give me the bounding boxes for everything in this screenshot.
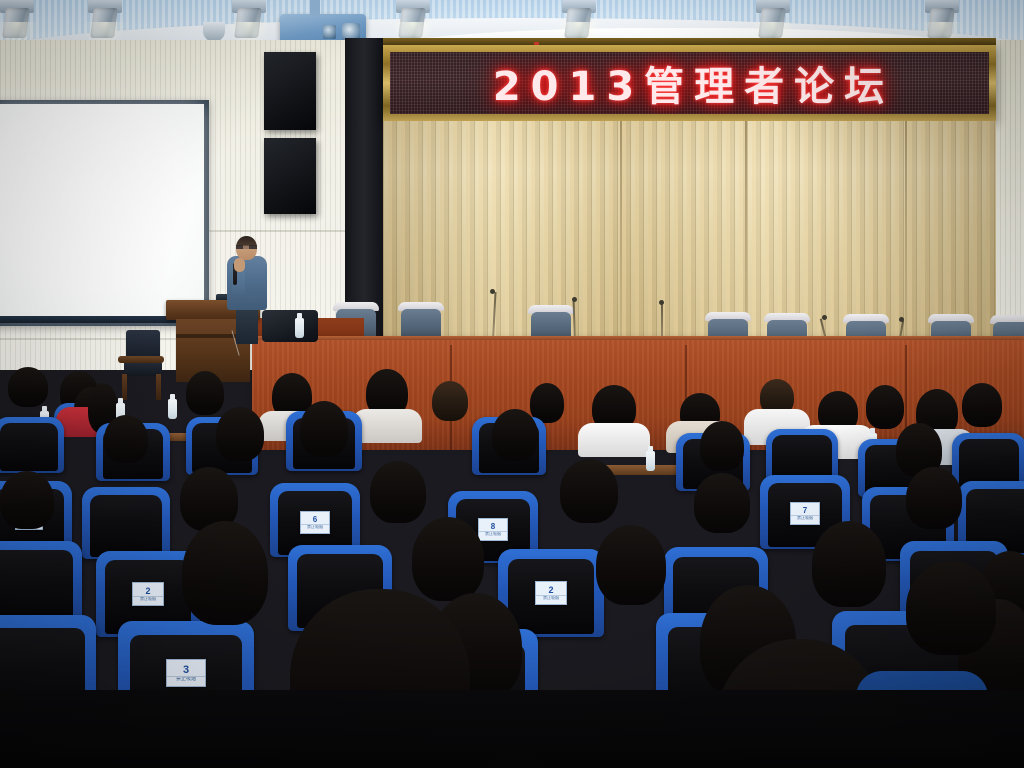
- audience-person: [8, 367, 48, 407]
- seat-plate-sub: 禁止吸烟: [479, 531, 507, 536]
- audience-person: [186, 371, 224, 415]
- audience-shoulders: [578, 423, 650, 457]
- microphone-head-icon: [659, 300, 664, 305]
- seat-number: 3: [183, 665, 189, 676]
- microphone-head-icon: [899, 317, 904, 322]
- projection-screen: [0, 104, 204, 316]
- audience-person: [182, 521, 268, 625]
- stage-spotlight-icon: [0, 0, 34, 42]
- audience-person: [492, 409, 538, 461]
- wall-speaker-icon: [264, 52, 316, 130]
- wall-speaker-icon: [264, 138, 316, 214]
- led-banner: 2013管理者论坛: [390, 52, 989, 114]
- seat-number-plate: 2 禁止吸烟: [132, 582, 164, 606]
- stage-spotlight-icon: [756, 0, 790, 42]
- audience-person: [866, 385, 904, 429]
- stage-spotlight-icon: [232, 0, 266, 42]
- seat-number-plate: 2 禁止吸烟: [535, 581, 567, 605]
- auditorium-seat[interactable]: [82, 487, 170, 559]
- audience-person: [412, 517, 484, 601]
- audience-person: [596, 525, 666, 605]
- audience-person: [812, 521, 886, 607]
- audience-person: [694, 473, 750, 533]
- audience-person: [432, 381, 468, 421]
- seat-plate-sub: 禁止吸烟: [133, 596, 163, 601]
- projector-mount: [310, 0, 320, 16]
- projector-lens-secondary-icon: [323, 25, 336, 39]
- audience-person: [962, 383, 1002, 427]
- led-banner-text: 2013管理者论坛: [485, 54, 894, 112]
- audience-person: [906, 467, 962, 529]
- seat-plate-sub: 禁止吸烟: [791, 515, 819, 520]
- audience-person: [216, 407, 264, 461]
- water-bottle: [646, 451, 655, 471]
- water-bottle: [168, 399, 177, 419]
- seat-number: 2: [548, 586, 553, 595]
- auditorium-seat[interactable]: [0, 541, 82, 625]
- seat-number: 8: [491, 523, 495, 531]
- audience-shoulders: [352, 409, 422, 443]
- seat-number: 2: [145, 587, 150, 596]
- curtain-seam: [905, 121, 907, 345]
- microphone-head-icon: [822, 315, 827, 320]
- stage-spotlight-icon: [925, 0, 959, 42]
- stage-spotlight-icon: [396, 0, 430, 42]
- stage-spotlight-icon: [562, 0, 596, 42]
- curtain-seam: [620, 121, 622, 345]
- speaker-lower-body: [236, 308, 258, 344]
- audience-person: [700, 421, 744, 471]
- audience-person: [906, 561, 996, 655]
- speaker-hand: [234, 258, 245, 272]
- seat-plate-sub: 禁止吸烟: [301, 524, 329, 529]
- audience-person: [104, 415, 148, 463]
- seat-number: 7: [803, 507, 807, 515]
- seat-plate-sub: 禁止吸烟: [536, 595, 566, 600]
- audience-person: [560, 459, 618, 523]
- stage-monitor: [262, 310, 318, 342]
- dark-column: [345, 38, 387, 338]
- audience-person: [370, 461, 426, 523]
- audience-person: [0, 471, 54, 529]
- seat-number-plate: 8 禁止吸烟: [478, 518, 508, 541]
- stage-chair: [398, 302, 444, 340]
- seat-number-plate: 7 禁止吸烟: [790, 502, 820, 525]
- microphone-head-icon: [572, 297, 577, 302]
- auditorium-seat[interactable]: [0, 417, 64, 473]
- foreground-shadow: [0, 690, 1024, 768]
- conference-hall-photo: 2013管理者论坛: [0, 0, 1024, 768]
- microphone-head-icon: [490, 289, 495, 294]
- seat-number: 6: [313, 516, 317, 524]
- audience-person: [300, 401, 348, 457]
- water-bottle: [295, 318, 304, 338]
- seat-number-plate: 6 禁止吸烟: [300, 511, 330, 534]
- seat-plate-sub: 禁止吸烟: [167, 676, 205, 682]
- glasses-icon: [236, 245, 257, 249]
- stage-spotlight-icon: [88, 0, 122, 42]
- seat-number-plate: 3 禁止吸烟: [166, 659, 206, 687]
